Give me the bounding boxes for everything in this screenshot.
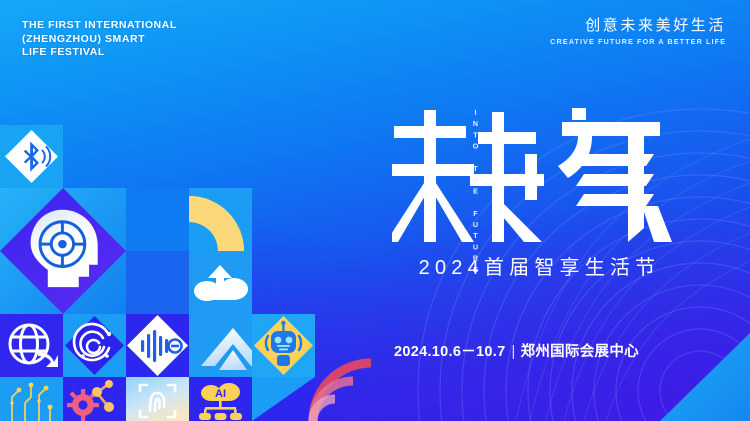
main-title: INTO THE FUTURE xyxy=(392,102,682,250)
ai-head-icon xyxy=(0,188,126,314)
main-title-glyphs xyxy=(392,102,682,250)
separator: | xyxy=(505,344,520,360)
slogan-english: CREATIVE FUTURE FOR A BETTER LIFE xyxy=(550,36,726,48)
wifi-arcs-icon xyxy=(305,355,425,421)
icon-mosaic: AI xyxy=(0,0,380,421)
bluetooth-icon xyxy=(0,125,63,188)
cloud-upload-icon xyxy=(189,251,252,314)
fingerprint-scan-icon xyxy=(126,377,189,421)
svg-text:AI: AI xyxy=(215,388,226,400)
event-venue: 郑州国际会展中心 xyxy=(521,344,639,360)
slogan-chinese: 创意未来美好生活 xyxy=(550,16,726,35)
logo-line-1: THE FIRST INTERNATIONAL xyxy=(22,19,177,33)
slogan-block: 创意未来美好生活 CREATIVE FUTURE FOR A BETTER LI… xyxy=(550,16,726,48)
title-vertical-english: INTO THE FUTURE xyxy=(468,108,482,276)
soundwave-icon xyxy=(126,314,189,377)
subtitle: 2024首届智享生活节 xyxy=(394,256,680,280)
festival-logo-text: THE FIRST INTERNATIONAL (ZHENGZHOU) SMAR… xyxy=(22,19,177,60)
poster-canvas: AI THE FIRST INTERNATIONAL (ZHENGZHOU) S… xyxy=(0,0,750,421)
globe-icon xyxy=(0,314,63,377)
fingerprint-spiral-icon xyxy=(63,314,126,377)
date-venue-bar: 2024.10.6－10.7|郑州国际会展中心 xyxy=(394,340,684,361)
ai-cloud-icon: AI xyxy=(189,377,252,421)
logo-line-3: LIFE FESTIVAL xyxy=(22,46,177,60)
event-date: 2024.10.6－10.7 xyxy=(394,344,505,360)
gear-network-icon xyxy=(63,377,126,421)
circuit-icon xyxy=(0,377,63,421)
logo-line-2: (ZHENGZHOU) SMART xyxy=(22,33,177,47)
